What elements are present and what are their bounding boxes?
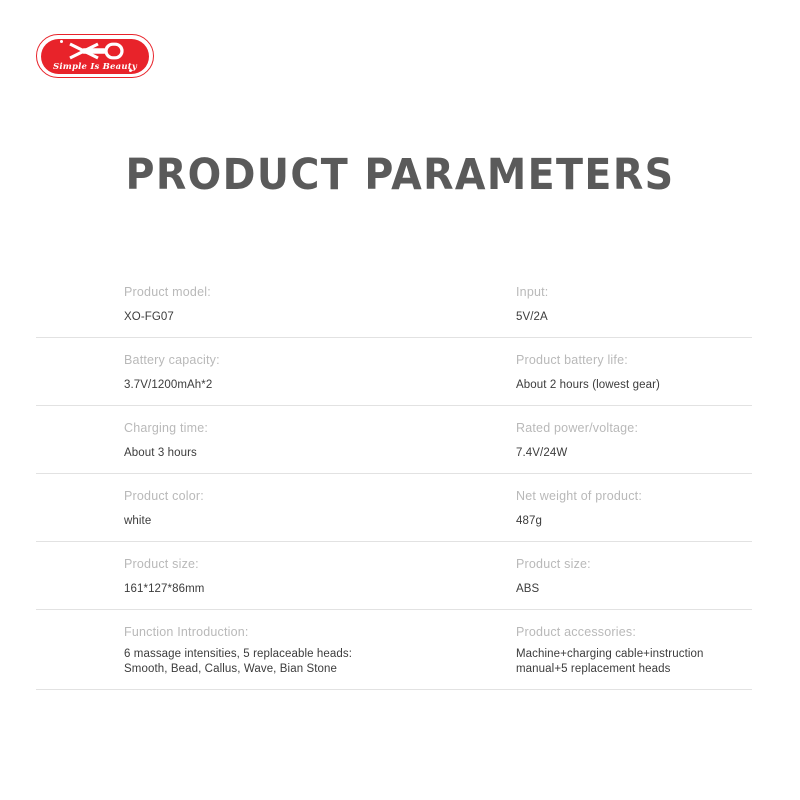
spec-cell-left: Product color: white: [36, 488, 502, 529]
spec-value: white: [124, 514, 502, 529]
spec-row: Battery capacity: 3.7V/1200mAh*2 Product…: [36, 352, 752, 406]
logo-dot-top-left: [60, 40, 63, 43]
spec-value: About 2 hours (lowest gear): [516, 378, 752, 393]
page-title: PRODUCT PARAMETERS: [32, 150, 768, 200]
spec-label: Product model:: [124, 284, 502, 301]
spec-label: Battery capacity:: [124, 352, 502, 369]
spec-value: Machine+charging cable+instruction manua…: [516, 647, 752, 677]
spec-label: Product color:: [124, 488, 502, 505]
spec-value: 161*127*86mm: [124, 582, 502, 597]
logo-tagline: Simple Is Beauty: [36, 62, 154, 72]
spec-value: 5V/2A: [516, 310, 752, 325]
spec-cell-left: Product size: 161*127*86mm: [36, 556, 502, 597]
spec-label: Product accessories:: [516, 624, 752, 641]
spec-cell-right: Product size: ABS: [502, 556, 752, 597]
spec-cell-left: Function Introduction: 6 massage intensi…: [36, 624, 502, 677]
spec-label: Rated power/voltage:: [516, 420, 752, 437]
spec-row: Product color: white Net weight of produ…: [36, 488, 752, 542]
spec-label: Net weight of product:: [516, 488, 752, 505]
spec-value: XO-FG07: [124, 310, 502, 325]
spec-cell-right: Product accessories: Machine+charging ca…: [502, 624, 752, 677]
spec-value: 6 massage intensities, 5 replaceable hea…: [124, 647, 502, 677]
spec-label: Charging time:: [124, 420, 502, 437]
spec-cell-right: Input: 5V/2A: [502, 284, 752, 325]
spec-label: Product size:: [124, 556, 502, 573]
logo-dot-bottom-right: [129, 69, 132, 72]
specification-table: Product model: XO-FG07 Input: 5V/2A Batt…: [36, 284, 752, 690]
spec-value: About 3 hours: [124, 446, 502, 461]
spec-label: Function Introduction:: [124, 624, 502, 641]
spec-row: Product model: XO-FG07 Input: 5V/2A: [36, 284, 752, 338]
spec-cell-right: Rated power/voltage: 7.4V/24W: [502, 420, 752, 461]
xo-wordmark-icon: [36, 40, 154, 62]
spec-cell-right: Net weight of product: 487g: [502, 488, 752, 529]
spec-cell-left: Battery capacity: 3.7V/1200mAh*2: [36, 352, 502, 393]
spec-cell-left: Product model: XO-FG07: [36, 284, 502, 325]
spec-row: Function Introduction: 6 massage intensi…: [36, 624, 752, 690]
spec-label: Product size:: [516, 556, 752, 573]
spec-row: Charging time: About 3 hours Rated power…: [36, 420, 752, 474]
spec-label: Input:: [516, 284, 752, 301]
spec-value: 3.7V/1200mAh*2: [124, 378, 502, 393]
brand-logo: Simple Is Beauty: [36, 34, 154, 78]
spec-value: ABS: [516, 582, 752, 597]
spec-value: 7.4V/24W: [516, 446, 752, 461]
spec-cell-right: Product battery life: About 2 hours (low…: [502, 352, 752, 393]
spec-cell-left: Charging time: About 3 hours: [36, 420, 502, 461]
spec-row: Product size: 161*127*86mm Product size:…: [36, 556, 752, 610]
spec-label: Product battery life:: [516, 352, 752, 369]
spec-value: 487g: [516, 514, 752, 529]
